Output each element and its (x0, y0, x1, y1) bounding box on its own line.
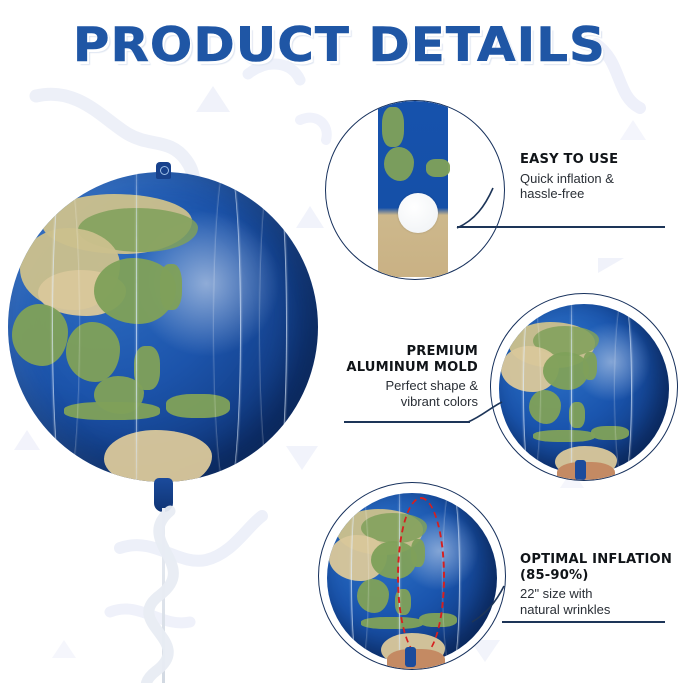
callout-body: 22" size with natural wrinkles (520, 586, 679, 617)
wrinkle-highlight-marker (397, 497, 445, 657)
balloon-seam (615, 304, 632, 474)
callout-rule-premium-aluminum-mold (344, 421, 470, 423)
callout-body-line: Quick inflation & (520, 171, 670, 187)
callout-body-line: Perfect shape & (330, 378, 478, 394)
panel-landmass (384, 147, 414, 181)
panel-landmass (382, 107, 404, 147)
balloon-seam (571, 304, 572, 474)
landmass-korea-japan (160, 264, 182, 310)
decor-triangle (196, 86, 230, 112)
page-title-text: PRODUCT DETAILS (73, 18, 606, 73)
callout-heading-line: OPTIMAL INFLATION (520, 552, 675, 568)
globe-balloon-small (499, 304, 669, 474)
callout-heading-line: ALUMINUM MOLD (334, 360, 478, 376)
decor-triangle (598, 258, 624, 288)
balloon-valve-bottom (575, 460, 586, 480)
panel-landmass (426, 159, 450, 177)
hero-product-image (4, 160, 324, 510)
balloon-ribbon (104, 505, 264, 683)
inset-image-wrinkle-detail (319, 483, 505, 669)
landmass-australia (104, 430, 212, 482)
callout-premium-aluminum-mold: PREMIUM ALUMINUM MOLD Perfect shape & vi… (330, 344, 478, 409)
page-title: PRODUCT DETAILS (0, 18, 679, 73)
balloon-seam (214, 172, 241, 482)
callout-heading: OPTIMAL INFLATION (85-90%) (520, 552, 675, 583)
balloon-seam (136, 172, 137, 482)
balloon-seam (351, 493, 368, 663)
balloon-valve-top (156, 162, 171, 179)
balloon-seam (443, 493, 460, 663)
hand (557, 462, 615, 480)
self-sealing-valve-icon (398, 193, 438, 233)
callout-optimal-inflation: OPTIMAL INFLATION (85-90%) 22" size with… (520, 552, 679, 617)
globe-balloon (8, 172, 318, 482)
balloon-seam (52, 172, 79, 482)
callout-body-line: natural wrinkles (520, 602, 679, 618)
landmass-indonesia (64, 402, 160, 420)
decor-triangle (52, 640, 76, 658)
callout-easy-to-use: EASY TO USE Quick inflation & hassle-fre… (520, 152, 670, 202)
landmass-japan (583, 352, 597, 380)
hand (387, 649, 445, 669)
balloon-seam (523, 304, 540, 474)
callout-rule-optimal-inflation (502, 621, 665, 623)
landmass-indonesia (533, 430, 595, 442)
callout-body-line: 22" size with (520, 586, 679, 602)
callout-body: Quick inflation & hassle-free (520, 171, 670, 202)
callout-body-line: hassle-free (520, 186, 670, 202)
inset-optimal-inflation (318, 482, 506, 670)
inset-image-inflated-globe (491, 294, 677, 480)
decor-triangle (620, 120, 646, 140)
callout-heading: EASY TO USE (520, 152, 666, 168)
callout-body: Perfect shape & vibrant colors (330, 378, 478, 409)
callout-heading: PREMIUM ALUMINUM MOLD (334, 344, 478, 375)
callout-heading-line: (85-90%) (520, 568, 675, 584)
balloon-valve-bottom (405, 647, 416, 667)
callout-heading-line: PREMIUM (334, 344, 478, 360)
inset-premium-aluminum-mold (490, 293, 678, 481)
balloon-seam (260, 172, 287, 482)
landmass-china (543, 352, 589, 390)
callout-rule-easy-to-use (457, 226, 665, 228)
callout-body-line: vibrant colors (330, 394, 478, 410)
infographic-canvas: PRODUCT DETAILS (0, 0, 679, 683)
